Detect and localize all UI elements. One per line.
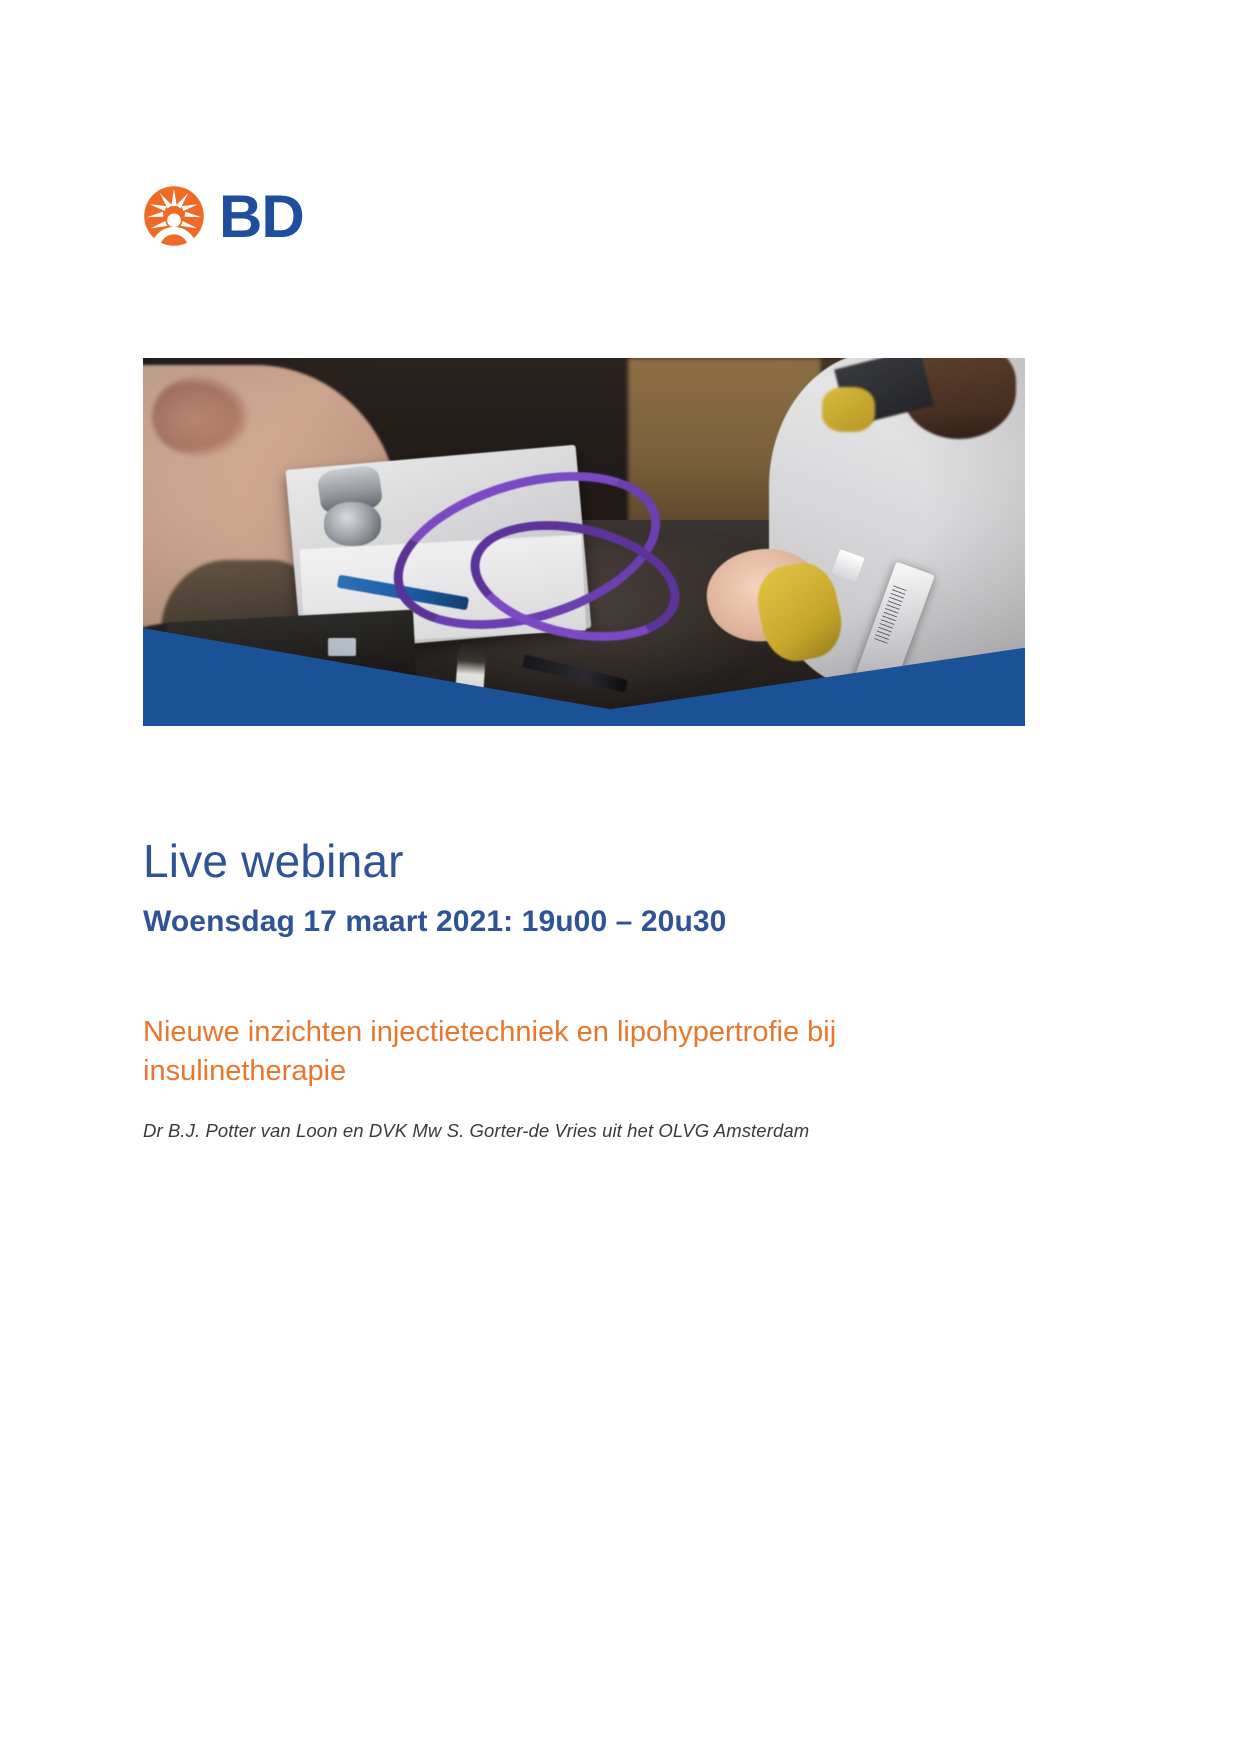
bd-logo: BD <box>143 185 304 247</box>
event-date-time: Woensdag 17 maart 2021: 19u00 – 20u30 <box>143 905 726 940</box>
speakers-line: Dr B.J. Potter van Loon en DVK Mw S. Gor… <box>143 1118 1053 1144</box>
event-type-heading: Live webinar <box>143 836 404 887</box>
bd-sunburst-logo-icon <box>143 185 205 247</box>
photo-stethoscope-chestpiece <box>324 502 381 546</box>
bd-wordmark: BD <box>219 187 304 247</box>
webinar-title: Nieuwe inzichten injectietechniek en lip… <box>143 1013 1043 1091</box>
photo-nurse-scarf <box>822 387 875 431</box>
flyer-page: BD <box>0 0 1241 1751</box>
hero-photo <box>143 358 1025 726</box>
photo-patient-ear <box>152 376 249 457</box>
photo-console-label <box>328 638 356 656</box>
